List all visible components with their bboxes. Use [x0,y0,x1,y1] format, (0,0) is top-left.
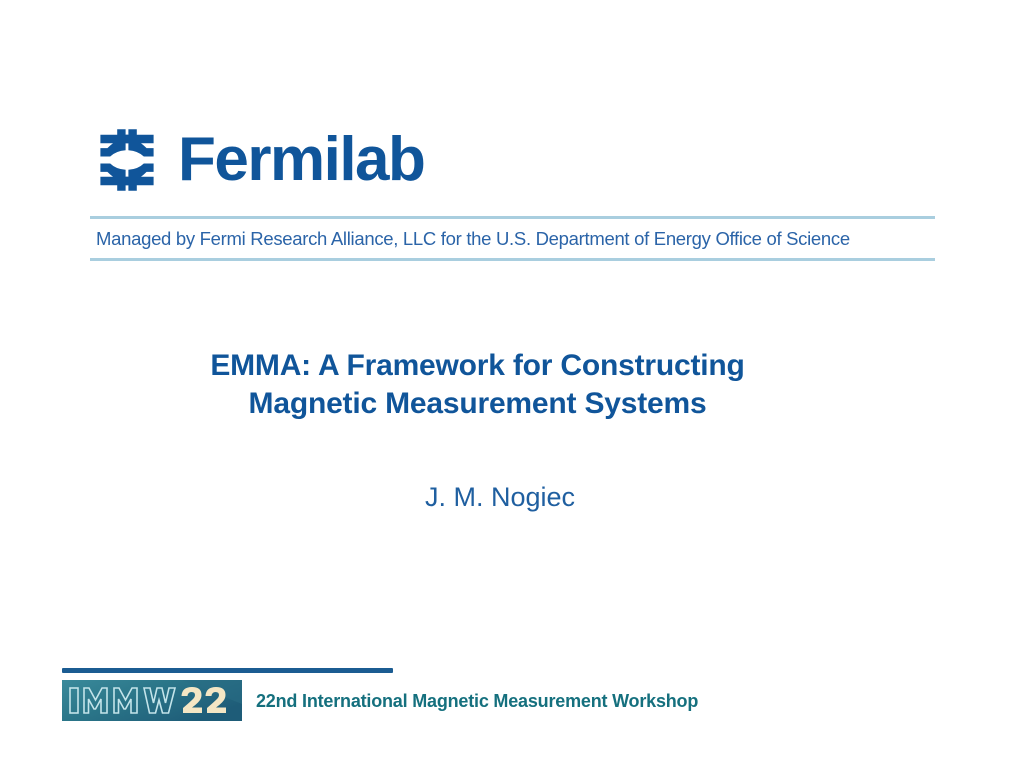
footer-workshop-title: 22nd International Magnetic Measurement … [256,692,698,710]
fermilab-wordmark: Fermilab [178,129,424,191]
fermilab-rule-bottom [90,258,935,261]
fermilab-mark-row: Fermilab [90,118,935,202]
footer-rule [62,668,393,673]
immw22-logo-icon [62,680,242,721]
slide-title-line-2: Magnetic Measurement Systems [0,385,955,423]
fermilab-logo-lockup: Fermilab Managed by Fermi Research Allia… [90,118,935,261]
slide-title: EMMA: A Framework for Constructing Magne… [0,347,955,423]
slide-footer: 22nd International Magnetic Measurement … [62,668,962,721]
slide-author: J. M. Nogiec [0,482,1000,513]
footer-row: 22nd International Magnetic Measurement … [62,680,962,721]
slide-title-line-1: EMMA: A Framework for Constructing [0,347,955,385]
fermilab-tagline: Managed by Fermi Research Alliance, LLC … [90,219,935,258]
fermilab-symbol-icon [92,125,162,195]
